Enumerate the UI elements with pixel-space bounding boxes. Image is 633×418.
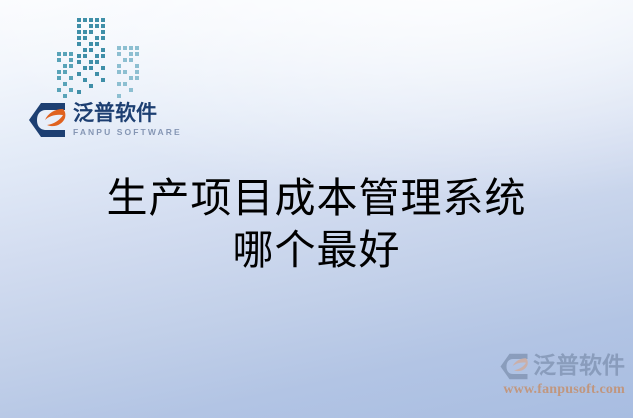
watermark-logo-row: 泛普软件 — [485, 352, 625, 381]
pixel-city-skyline-icon — [55, 12, 167, 100]
brand-name-en: FANPU SOFTWARE — [73, 128, 182, 137]
watermark-url: www.fanpusoft.com — [485, 382, 625, 398]
page-title-line-2: 哪个最好 — [0, 224, 633, 276]
brand-logo: 泛普软件 FANPU SOFTWARE — [27, 101, 182, 139]
page-title: 生产项目成本管理系统 哪个最好 — [0, 172, 633, 276]
page-title-line-1: 生产项目成本管理系统 — [0, 172, 633, 224]
promo-banner: 泛普软件 FANPU SOFTWARE 生产项目成本管理系统 哪个最好 泛普软件… — [0, 0, 633, 418]
brand-logo-text: 泛普软件 FANPU SOFTWARE — [73, 103, 182, 137]
fanpu-logo-watermark-icon — [499, 352, 529, 381]
watermark: 泛普软件 www.fanpusoft.com — [485, 352, 625, 410]
fanpu-logo-icon — [27, 101, 67, 139]
watermark-brand-name: 泛普软件 — [533, 355, 625, 378]
brand-name-cn: 泛普软件 — [73, 103, 182, 124]
